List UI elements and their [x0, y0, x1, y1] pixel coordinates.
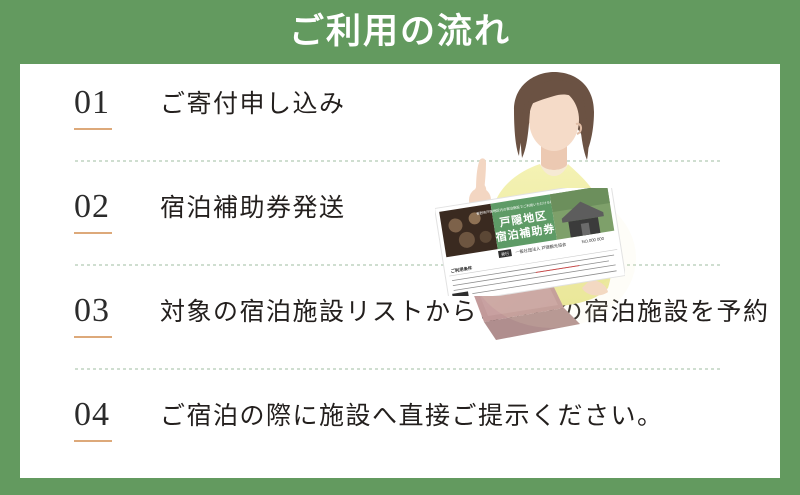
steps-card: 01 ご寄付申し込み 02 宿泊補助券発送 03 対象の宿泊施設リス: [20, 64, 780, 478]
divider: [75, 160, 723, 162]
list-item: 03 対象の宿泊施設リストからご希望の宿泊施設を予約: [20, 272, 780, 376]
step-number-underline: [74, 128, 112, 130]
step-label: 対象の宿泊施設リストからご希望の宿泊施設を予約: [160, 296, 770, 330]
step-number-block: 04: [74, 396, 136, 442]
step-number-block: 01: [74, 84, 136, 130]
step-number: 02: [74, 188, 136, 226]
step-number-underline: [74, 336, 112, 338]
step-number-block: 02: [74, 188, 136, 234]
step-label: 宿泊補助券発送: [160, 192, 346, 226]
step-label: ご宿泊の際に施設へ直接ご提示ください。: [160, 400, 664, 434]
step-number: 01: [74, 84, 136, 122]
divider: [75, 368, 723, 370]
steps-list: 01 ご寄付申し込み 02 宿泊補助券発送 03 対象の宿泊施設リス: [20, 64, 780, 478]
page-background: ご利用の流れ 01 ご寄付申し込み 02 宿泊補助券発送: [0, 0, 800, 495]
divider: [75, 264, 723, 266]
step-number: 04: [74, 396, 136, 434]
thatched-roof-shrine-photo: [550, 188, 614, 240]
step-number-underline: [74, 440, 112, 442]
list-item: 01 ご寄付申し込み: [20, 64, 780, 168]
list-item: 04 ご宿泊の際に施設へ直接ご提示ください。: [20, 376, 780, 478]
step-number-underline: [74, 232, 112, 234]
step-number-block: 03: [74, 292, 136, 338]
page-title: ご利用の流れ: [0, 8, 800, 56]
list-item: 02 宿泊補助券発送: [20, 168, 780, 272]
step-number: 03: [74, 292, 136, 330]
step-label: ご寄付申し込み: [160, 88, 346, 122]
issuer-label: 発行: [501, 250, 510, 257]
accommodation-subsidy-voucher: 長野市戸隠地区内の宿泊施設でご利用いただける補助券です 戸隠地区 宿泊補助券 発…: [435, 188, 625, 296]
